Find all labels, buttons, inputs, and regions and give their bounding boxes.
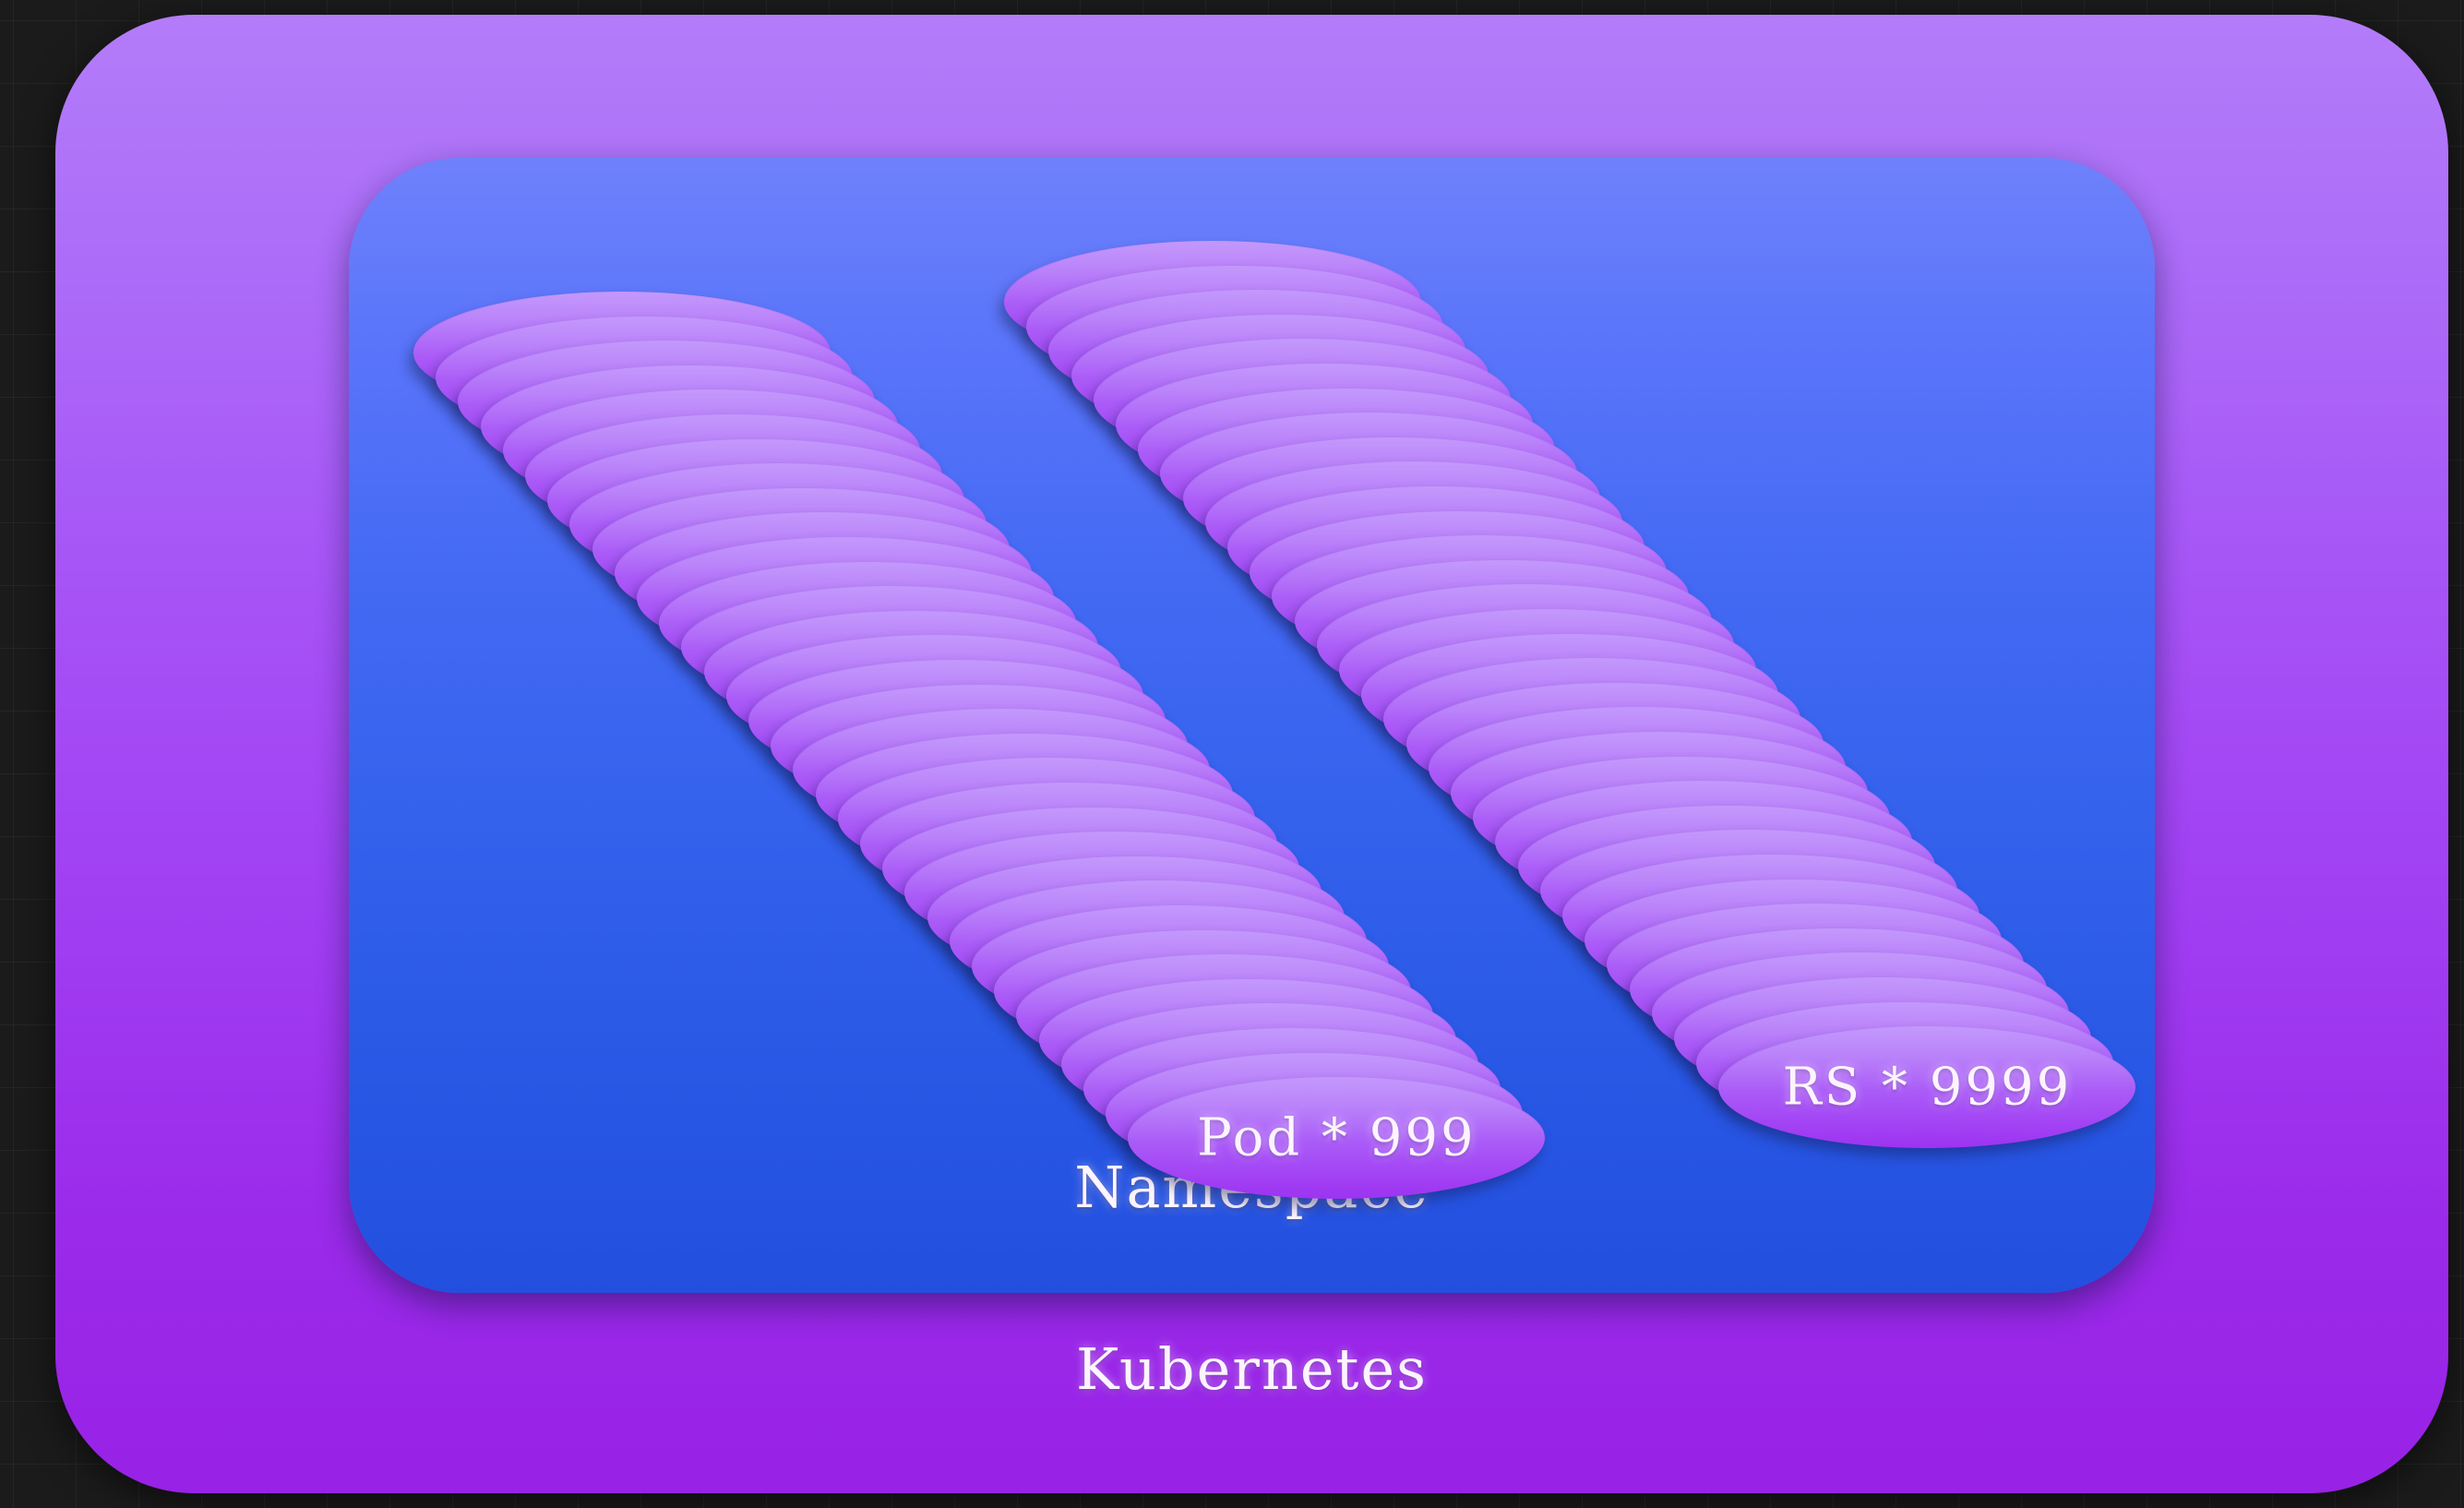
replicaset-stack-ellipse [1518,806,1935,928]
pod-stack-ellipse [413,292,831,413]
pod-stack-ellipse [436,317,853,438]
pod-stack-ellipse [481,365,898,487]
pod-stack-ellipse [503,389,920,511]
ellipse-highlight [1674,977,2091,1041]
replicaset-stack-ellipse [1540,830,1957,951]
pod-stack-ellipse [1083,1028,1501,1150]
pod-stack-ellipse [860,783,1277,904]
ellipse-highlight [1696,1002,2113,1066]
pod-stack-ellipse [592,488,1010,610]
replicaset-stack-ellipse [1071,315,1489,437]
namespace-label: Namespace [349,1154,2155,1221]
pod-stack-ellipse [994,930,1411,1052]
ellipse-highlight [1094,339,1511,402]
ellipse-highlight [1495,781,1912,844]
replicaset-stack-ellipse [1696,1002,2113,1124]
replicaset-stack: RS * 9999 [349,158,2155,1293]
ellipse-highlight [882,808,1299,871]
ellipse-highlight [1128,1077,1545,1141]
pod-stack-ellipse [771,685,1188,807]
ellipse-highlight [927,856,1345,920]
ellipse-highlight [1339,609,1756,673]
ellipse-highlight [972,905,1389,969]
pod-stack-ellipse [816,734,1233,856]
pod-stack-ellipse [950,880,1367,1002]
ellipse-highlight [1451,732,1868,796]
ellipse-highlight [1652,952,2069,1016]
ellipse-highlight [748,660,1166,724]
ellipse-highlight [1317,584,1734,648]
pod-stack-ellipse [1016,954,1433,1076]
pod-stack-ellipse [904,832,1322,953]
namespace-container[interactable]: Pod * 999 RS * 9999 Namespace [349,158,2155,1293]
ellipse-highlight [1295,560,1712,624]
ellipse-highlight [1205,461,1622,525]
ellipse-highlight [950,880,1367,944]
ellipse-highlight [1272,535,1689,599]
ellipse-highlight [1473,757,1890,820]
pod-stack-ellipse [569,463,987,585]
replicaset-stack-ellipse [1383,658,1800,780]
ellipse-highlight [1562,855,1980,918]
pod-stack: Pod * 999 [349,158,2155,1293]
replicaset-stack-ellipse [1138,389,1555,510]
ellipse-highlight [458,341,875,404]
ellipse-highlight [904,832,1322,895]
replicaset-stack-ellipse [1429,707,1846,829]
ellipse-highlight [1429,707,1846,771]
ellipse-highlight [503,389,920,453]
ellipse-highlight [413,292,831,355]
ellipse-highlight [615,512,1032,576]
ellipse-highlight [816,734,1233,797]
replicaset-stack-ellipse [1630,928,2047,1050]
ellipse-highlight [1004,241,1421,305]
pod-stack-ellipse [547,439,964,561]
pod-stack-ellipse [1039,979,1456,1101]
ellipse-highlight [681,586,1098,650]
pod-stack-ellipse [458,341,875,462]
replicaset-stack-ellipse [1607,904,2024,1025]
kubernetes-label: Kubernetes [55,1335,2448,1403]
ellipse-highlight [1071,315,1489,378]
ellipse-highlight [1630,928,2047,992]
pod-stack-ellipse [726,635,1143,757]
replicaset-stack-ellipse [1004,241,1421,363]
pod-stack-ellipse [972,905,1389,1027]
ellipse-highlight [1116,364,1533,427]
replicaset-stack-ellipse [1562,855,1980,976]
pod-stack-ellipse [615,512,1032,634]
ellipse-highlight [1160,413,1577,476]
ellipse-highlight [525,414,942,478]
ellipse-highlight [793,709,1210,772]
pod-stack-ellipse [838,758,1255,880]
ellipse-highlight [1106,1053,1523,1117]
ellipse-highlight [436,317,853,380]
pod-stack-ellipse [793,709,1210,831]
replicaset-stack-ellipse [1585,880,2002,1001]
ellipse-highlight [1607,904,2024,967]
replicaset-stack-ellipse [1674,977,2091,1099]
ellipse-highlight [1718,1026,2135,1090]
pod-stack-ellipse [704,611,1121,733]
ellipse-highlight [1061,1003,1478,1067]
ellipse-highlight [704,611,1121,675]
ellipse-highlight [1083,1028,1501,1092]
ellipse-highlight [838,758,1255,821]
replicaset-stack-ellipse [1026,266,1443,388]
ellipse-highlight [1406,683,1824,747]
pod-stack-ellipse [525,414,942,536]
ellipse-highlight [1183,437,1600,501]
ellipse-highlight [1138,389,1555,452]
ellipse-highlight [1361,634,1778,698]
ellipse-highlight [1016,954,1433,1018]
pod-stack-ellipse [681,586,1098,708]
replicaset-stack-ellipse [1227,486,1645,608]
replicaset-stack-ellipse [1116,364,1533,485]
ellipse-highlight [1383,658,1800,722]
replicaset-stack-ellipse [1272,535,1689,657]
replicaset-stack-ellipse [1495,781,1912,903]
replicaset-stack-ellipse [1094,339,1511,461]
ellipse-highlight [1518,806,1935,869]
ellipse-highlight [726,635,1143,699]
ellipse-highlight [994,930,1411,994]
ellipse-highlight [637,537,1054,601]
ellipse-highlight [1048,290,1465,353]
replicaset-stack-ellipse [1048,290,1465,412]
pod-stack-ellipse [882,808,1299,929]
pod-stack-ellipse [637,537,1054,659]
ellipse-highlight [592,488,1010,552]
replicaset-stack-ellipse [1451,732,1868,854]
replicaset-stack-ellipse [1205,461,1622,583]
ellipse-highlight [1250,511,1667,575]
pod-stack-ellipse [1061,1003,1478,1125]
ellipse-highlight [659,562,1076,626]
replicaset-stack-ellipse [1406,683,1824,805]
diagram-canvas: Pod * 999 RS * 9999 Namespace Kubernetes [0,0,2464,1508]
replicaset-stack-label: RS * 9999 [1718,1058,2135,1118]
replicaset-stack-ellipse [1473,757,1890,879]
ellipse-highlight [771,685,1188,748]
ellipse-highlight [1026,266,1443,329]
pod-stack-ellipse [927,856,1345,978]
ellipse-highlight [1540,830,1957,893]
replicaset-stack-ellipse [1361,634,1778,756]
ellipse-highlight [481,365,898,429]
replicaset-stack-ellipse [1250,511,1667,633]
pod-stack-ellipse [748,660,1166,782]
replicaset-stack-ellipse [1652,952,2069,1074]
replicaset-stack-ellipse [1183,437,1600,559]
ellipse-highlight [860,783,1277,846]
replicaset-stack-ellipse [1339,609,1756,731]
ellipse-highlight [569,463,987,527]
ellipse-highlight [1039,979,1456,1043]
ellipse-highlight [547,439,964,503]
pod-stack-ellipse [659,562,1076,684]
replicaset-stack-ellipse [1295,560,1712,682]
replicaset-stack-ellipse [1160,413,1577,534]
replicaset-stack-ellipse [1317,584,1734,706]
ellipse-highlight [1585,880,2002,943]
kubernetes-container[interactable]: Pod * 999 RS * 9999 Namespace Kubernetes [55,15,2448,1493]
replicaset-stack-front-ellipse: RS * 9999 [1718,1026,2135,1148]
ellipse-highlight [1227,486,1645,550]
